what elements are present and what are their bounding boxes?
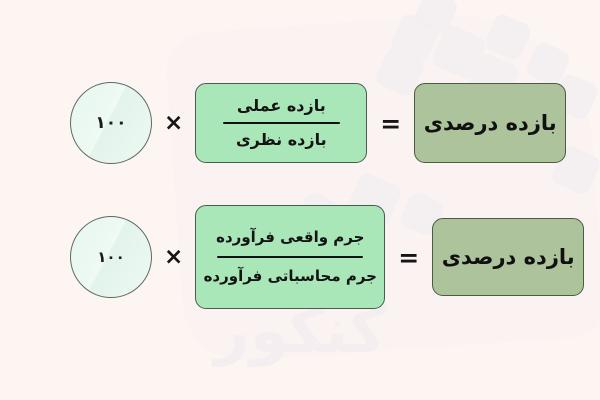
multiply-operator-icon: ×	[164, 246, 183, 269]
equals-operator-icon: =	[380, 111, 401, 136]
result-label: بازده درصدی	[442, 245, 575, 269]
fraction-bar-icon	[223, 122, 339, 125]
formula-row-percent-yield-mass: ۱۰۰ × جرم واقعی فرآورده جرم محاسباتی فرآ…	[70, 205, 584, 309]
fraction-numerator: جرم واقعی فرآورده	[216, 228, 364, 247]
watermark-brand-text: کنکور	[0, 300, 600, 362]
multiplier-value: ۱۰۰	[95, 113, 126, 133]
fraction-box: بازده عملی بازده نظری	[195, 83, 367, 163]
equals-operator-icon: =	[398, 245, 419, 270]
watermark-tile	[430, 23, 488, 81]
watermark-blob	[164, 6, 600, 364]
fraction-denominator: جرم محاسباتی فرآورده	[204, 267, 377, 286]
formula-row-percent-yield-general: ۱۰۰ × بازده عملی بازده نظری = بازده درصد…	[70, 82, 566, 164]
multiplier-value: ۱۰۰	[97, 248, 124, 266]
watermark-tile	[483, 12, 533, 62]
multiply-operator-icon: ×	[164, 112, 183, 135]
fraction-bar-icon	[217, 256, 363, 259]
fraction-box: جرم واقعی فرآورده جرم محاسباتی فرآورده	[195, 205, 385, 309]
result-box: بازده درصدی	[414, 83, 566, 163]
diagram-canvas: کنکور ۱۰۰ × بازده عملی بازده نظری = بازد…	[0, 0, 600, 400]
result-box: بازده درصدی	[432, 218, 584, 296]
background-watermark-layer: کنکور	[0, 0, 600, 400]
fraction-denominator: بازده نظری	[236, 130, 327, 150]
watermark-tile	[389, 12, 442, 65]
watermark-tile	[412, 0, 460, 36]
multiplier-circle: ۱۰۰	[70, 216, 152, 298]
watermark-tile	[524, 40, 572, 88]
multiplier-circle: ۱۰۰	[70, 82, 152, 164]
fraction-numerator: بازده عملی	[237, 96, 326, 116]
result-label: بازده درصدی	[424, 111, 557, 135]
